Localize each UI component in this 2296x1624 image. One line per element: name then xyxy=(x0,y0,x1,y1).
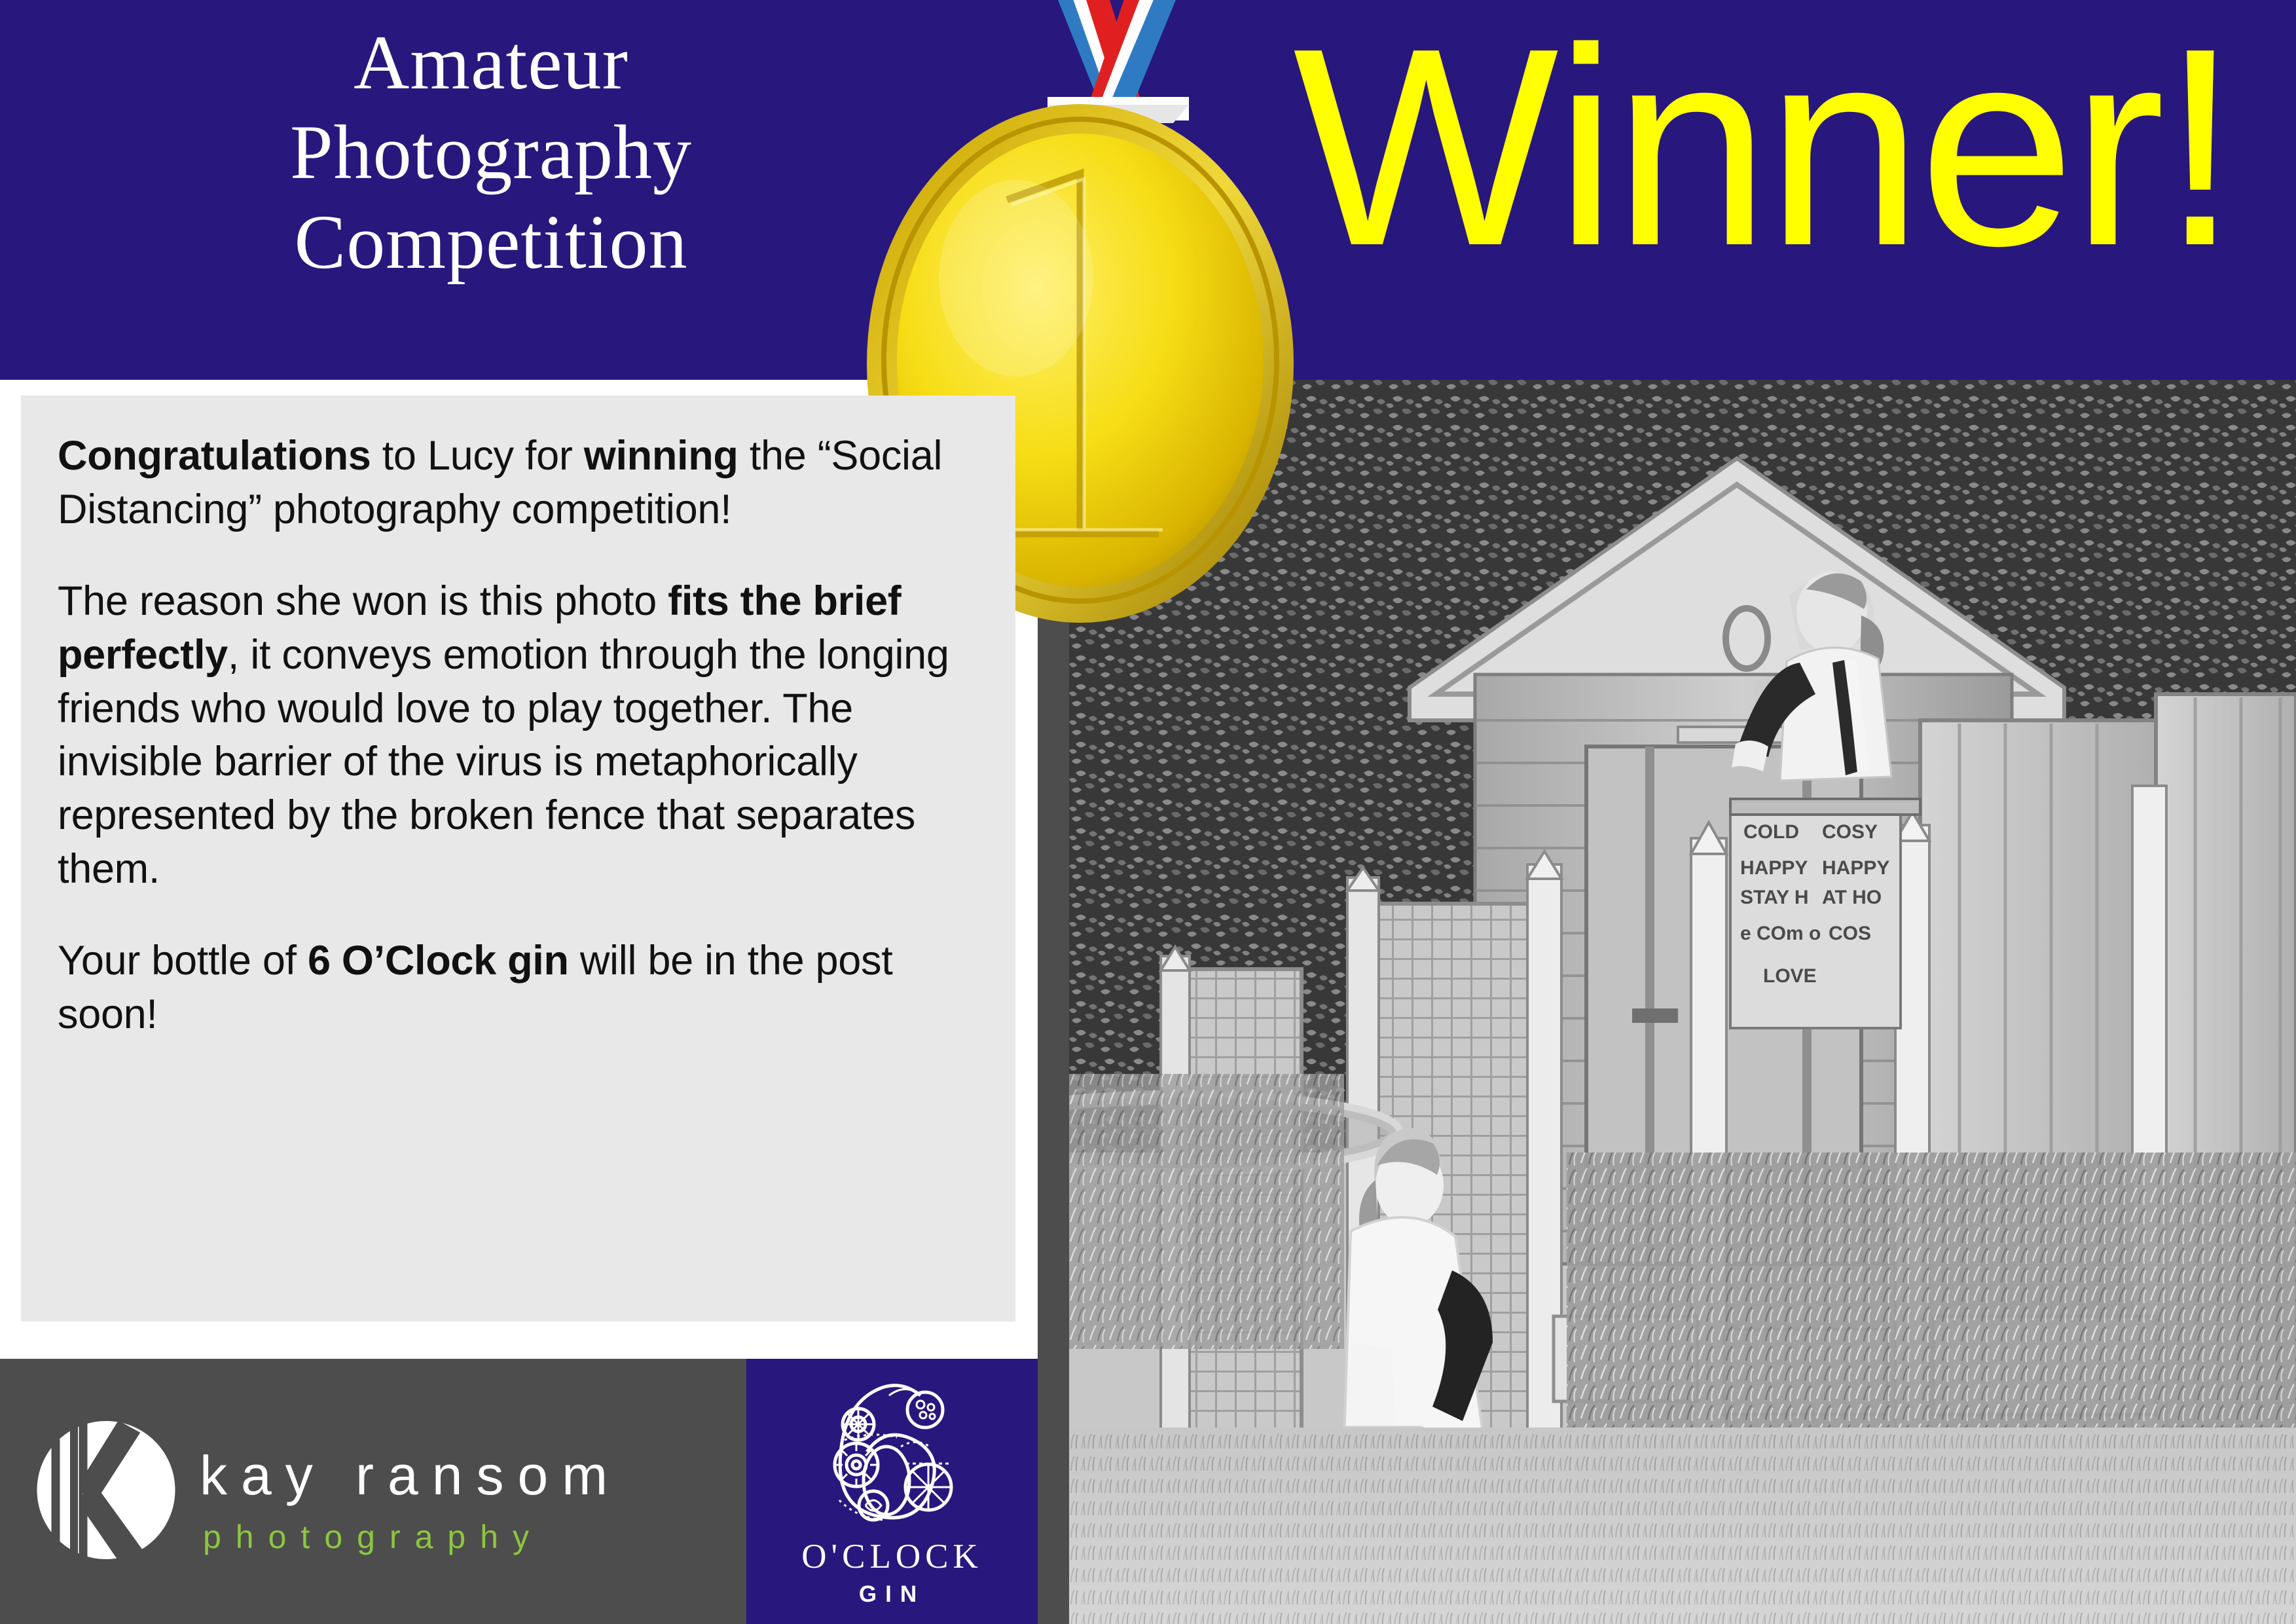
competition-title: Amateur Photography Competition xyxy=(216,18,766,287)
message-emphasis: winning xyxy=(584,433,738,479)
message-text: to Lucy for xyxy=(371,433,584,479)
photographer-tagline: photography xyxy=(203,1518,543,1556)
svg-text:COS: COS xyxy=(1829,923,1871,944)
svg-text:COSY: COSY xyxy=(1822,821,1878,843)
winner-headline: Winner! xyxy=(1293,7,2235,288)
kay-ransom-monogram-icon xyxy=(36,1420,177,1560)
svg-text:AT HO: AT HO xyxy=(1822,887,1882,908)
message-paragraph: Your bottle of 6 O’Clock gin will be in … xyxy=(58,934,979,1042)
message-body: Congratulations to Lucy for winning the … xyxy=(58,430,979,1042)
message-text: Your bottle of xyxy=(58,938,308,984)
photographer-footer: kay ransom photography xyxy=(0,1359,746,1624)
sponsor-name: O'CLOCK xyxy=(746,1537,1038,1576)
message-text: The reason she won is this photo xyxy=(58,578,668,624)
message-emphasis: Congratulations xyxy=(58,433,371,479)
message-emphasis: 6 O’Clock gin xyxy=(308,938,569,984)
message-paragraph: Congratulations to Lucy for winning the … xyxy=(58,430,979,537)
sponsor-product: GIN xyxy=(746,1581,1038,1608)
svg-text:COLD: COLD xyxy=(1743,821,1799,843)
competition-title-line-2: Photography xyxy=(216,108,766,198)
message-panel: Congratulations to Lucy for winning the … xyxy=(21,396,1015,1321)
six-oclock-numeral-icon xyxy=(811,1372,974,1536)
competition-title-line-3: Competition xyxy=(216,198,766,287)
competition-title-line-1: Amateur xyxy=(216,18,766,108)
svg-text:STAY H: STAY H xyxy=(1740,887,1809,908)
message-paragraph: The reason she won is this photo fits th… xyxy=(58,575,979,896)
svg-text:HAPPY: HAPPY xyxy=(1822,857,1889,879)
sponsor-footer: O'CLOCK GIN xyxy=(746,1359,1038,1624)
poster-root: Amateur Photography Competition Winner! xyxy=(0,0,2296,1624)
svg-text:e COm o: e COm o xyxy=(1740,923,1821,944)
svg-text:HAPPY: HAPPY xyxy=(1740,857,1808,879)
svg-text:LOVE: LOVE xyxy=(1763,965,1817,987)
photographer-name: kay ransom xyxy=(200,1444,621,1507)
